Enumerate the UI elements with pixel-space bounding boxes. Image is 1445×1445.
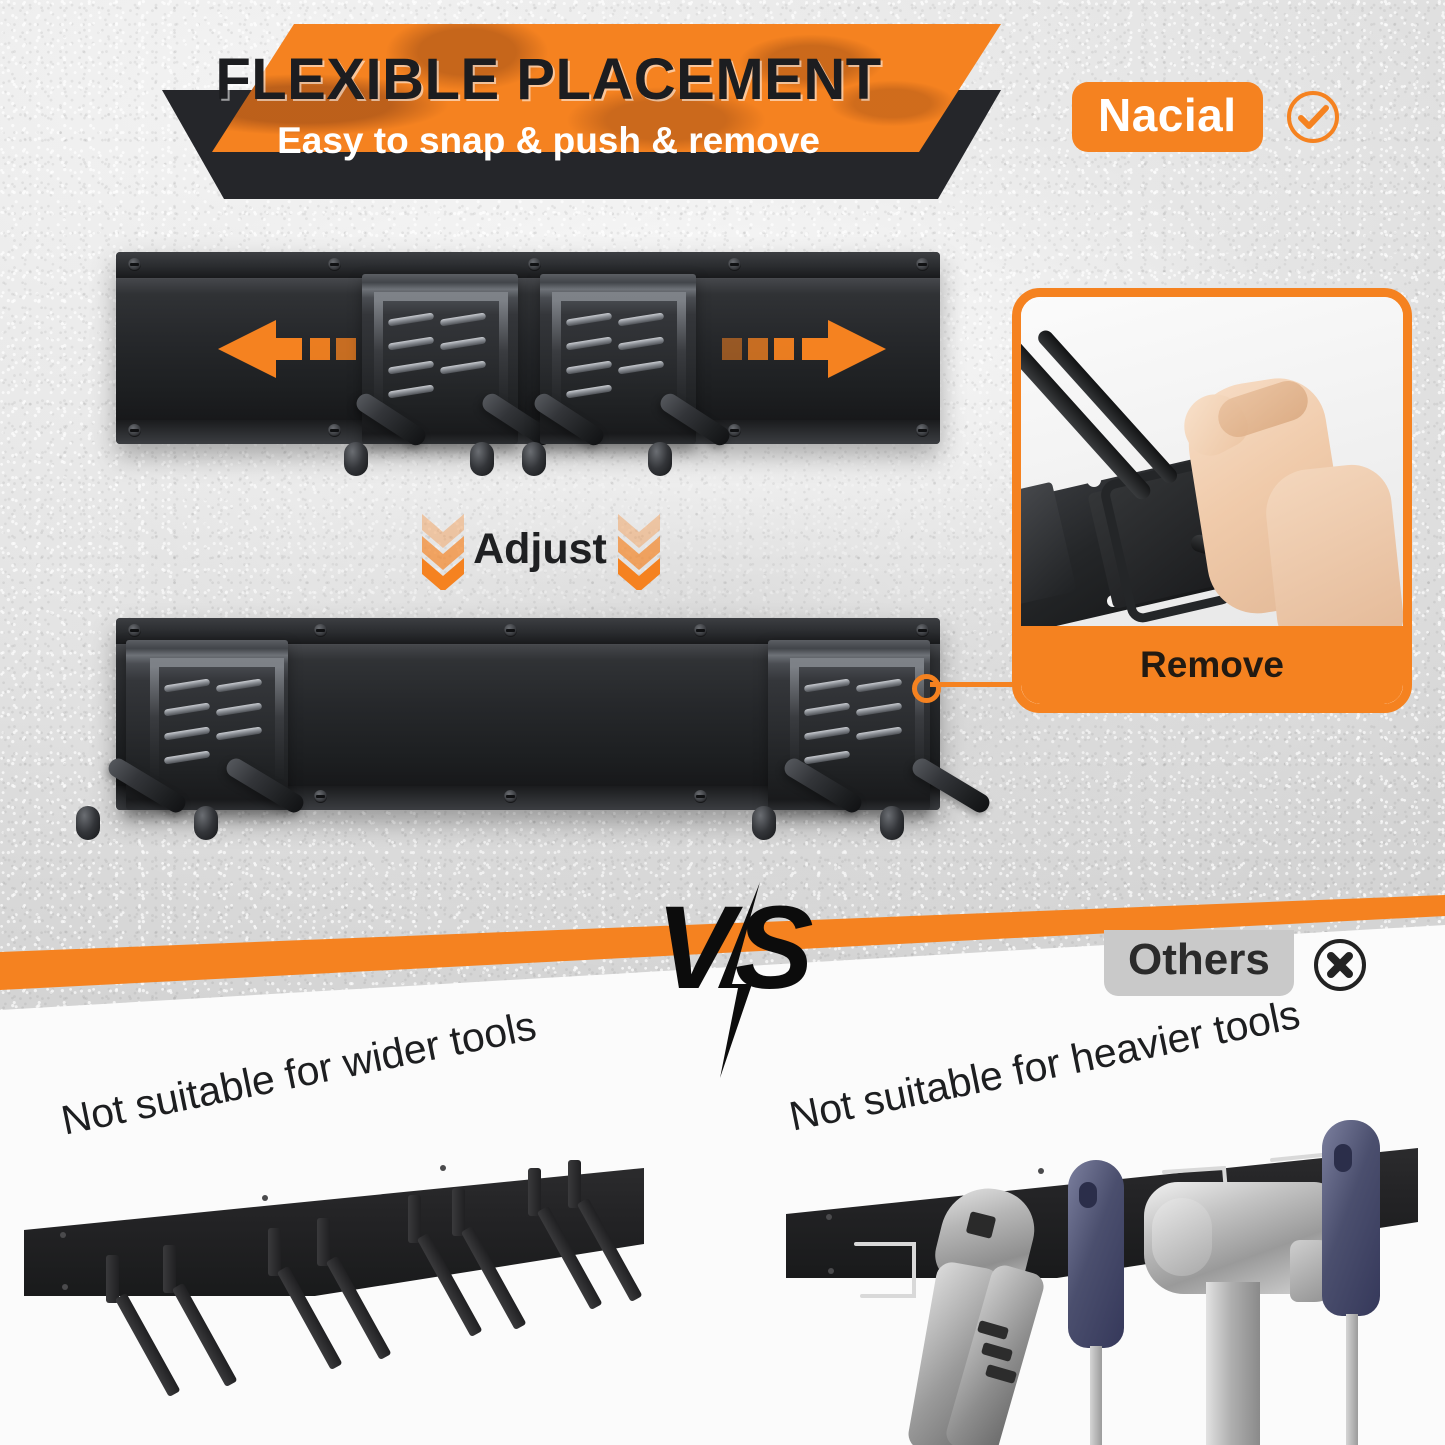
callout-dot-icon (912, 674, 941, 703)
screw-icon (916, 624, 929, 637)
plate-screw-icon (828, 1268, 834, 1274)
screw-icon (504, 790, 517, 803)
screw-icon (128, 424, 141, 437)
rack-prong (163, 1245, 176, 1293)
screwdriver-tool (1322, 1120, 1386, 1445)
page-title: FLEXIBLE PLACEMENT (96, 46, 1001, 113)
x-circle-icon (1312, 937, 1368, 993)
hook-prong-tip (648, 442, 672, 476)
screw-icon (694, 624, 707, 637)
hook-prong-tip (344, 442, 368, 476)
screw-icon (728, 258, 741, 271)
hand-wrist (1262, 461, 1403, 645)
others-badge: Others (1104, 930, 1294, 996)
screw-icon (504, 624, 517, 637)
screw-icon (728, 424, 741, 437)
pliers-tool (916, 1188, 1044, 1445)
adjust-indicator: Adjust (400, 508, 680, 590)
screw-icon (128, 258, 141, 271)
screw-icon (528, 258, 541, 271)
screwdriver-tool (1068, 1160, 1130, 1445)
page-subtitle: Easy to snap & push & remove (96, 120, 1001, 162)
rack-prong (268, 1228, 281, 1276)
screw-icon (916, 258, 929, 271)
check-circle-icon (1285, 89, 1341, 145)
callout-line (930, 682, 1022, 687)
plate-screw-icon (440, 1165, 446, 1171)
infographic-root: Adjust (0, 0, 1445, 1445)
rack-prong (317, 1218, 330, 1266)
plate-screw-icon (1038, 1168, 1044, 1174)
remove-label: Remove (1021, 626, 1403, 704)
rack-prong (408, 1195, 421, 1243)
header-banner: FLEXIBLE PLACEMENT Easy to snap & push &… (96, 24, 1001, 199)
screw-icon (314, 624, 327, 637)
screw-icon (328, 258, 341, 271)
screw-icon (916, 424, 929, 437)
remove-photo (1021, 297, 1403, 645)
plate-screw-icon (62, 1284, 68, 1290)
hook-prong-tip (76, 806, 100, 840)
others-badge-group: Others (1104, 930, 1368, 996)
arrow-right-icon (706, 318, 886, 380)
hook-prong-tip (194, 806, 218, 840)
brand-badge: Nacial (1072, 82, 1263, 152)
screw-icon (128, 624, 141, 637)
rack-prong (106, 1255, 119, 1303)
screw-icon (694, 790, 707, 803)
hook-prong-tip (752, 806, 776, 840)
rack-prong (568, 1160, 581, 1208)
plate-screw-icon (60, 1232, 66, 1238)
vs-logo: VS (648, 880, 858, 1080)
rack-prong (452, 1188, 465, 1236)
rack-prong (528, 1168, 541, 1216)
plate-screw-icon (826, 1214, 832, 1220)
screw-icon (314, 790, 327, 803)
remove-panel: Remove (1012, 288, 1412, 713)
hammer-tool (1144, 1182, 1344, 1445)
hook-prong-tip (880, 806, 904, 840)
hook-prong-tip (522, 442, 546, 476)
screw-icon (328, 424, 341, 437)
brand-badge-group: Nacial (1072, 82, 1341, 152)
photo-screw-icon (1087, 473, 1101, 487)
chevron-down-icon (612, 508, 666, 590)
hook-prong-tip (470, 442, 494, 476)
plate-screw-icon (262, 1195, 268, 1201)
